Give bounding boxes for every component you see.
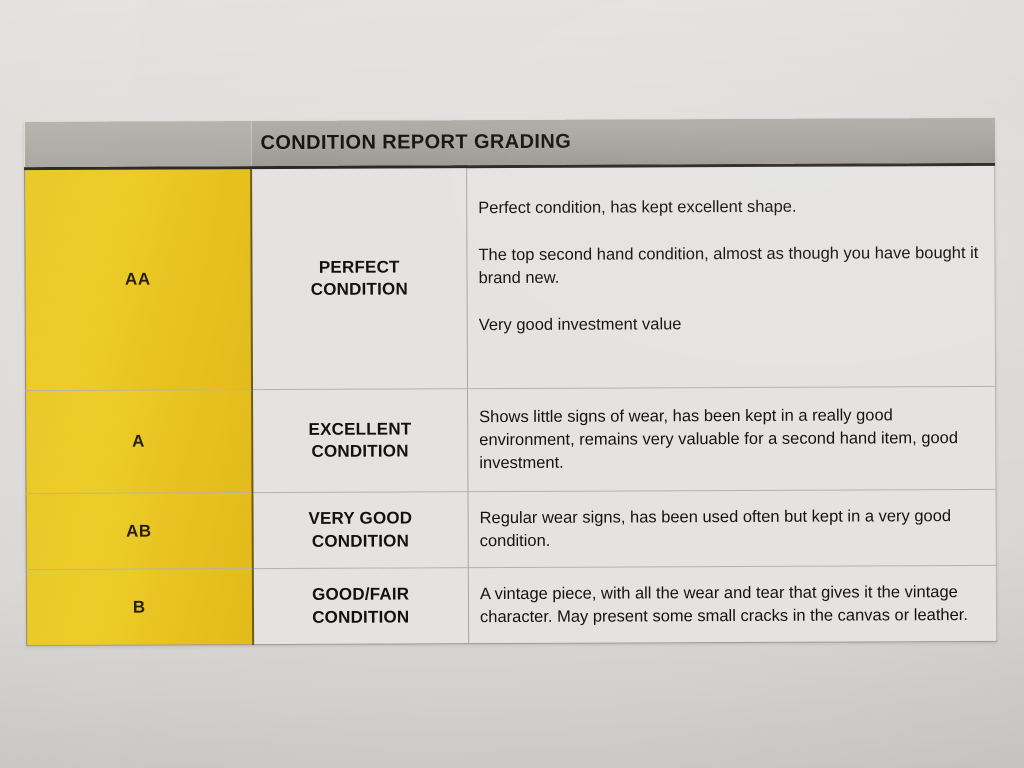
description-paragraph: Regular wear signs, has been used often … bbox=[480, 505, 984, 553]
header-left-spacer bbox=[24, 121, 251, 167]
condition-description-a: Shows little signs of wear, has been kep… bbox=[468, 386, 996, 492]
table-head: CONDITION REPORT GRADING bbox=[24, 118, 994, 169]
condition-name-line-2: CONDITION bbox=[258, 278, 461, 301]
table-body: AA PERFECT CONDITION Perfect condition, … bbox=[25, 164, 997, 645]
table-row: AA PERFECT CONDITION Perfect condition, … bbox=[25, 164, 996, 390]
description-paragraph: A vintage piece, with all the wear and t… bbox=[480, 581, 984, 629]
condition-name-b: GOOD/FAIR CONDITION bbox=[252, 568, 468, 645]
condition-name-line-1: PERFECT bbox=[258, 256, 461, 279]
condition-name-line-2: CONDITION bbox=[259, 440, 462, 463]
condition-description-aa: Perfect condition, has kept excellent sh… bbox=[467, 164, 996, 388]
condition-name-line-2: CONDITION bbox=[259, 530, 462, 553]
condition-description-b: A vintage piece, with all the wear and t… bbox=[468, 566, 996, 644]
condition-name-aa: PERFECT CONDITION bbox=[251, 167, 468, 390]
table-title-banner: CONDITION REPORT GRADING bbox=[24, 118, 994, 169]
condition-name-line-2: CONDITION bbox=[259, 606, 462, 629]
condition-name-a: EXCELLENT CONDITION bbox=[252, 389, 468, 493]
description-paragraph: Shows little signs of wear, has been kep… bbox=[479, 404, 983, 474]
table-row: AB VERY GOOD CONDITION Regular wear sign… bbox=[26, 490, 996, 570]
condition-report-grading-table: CONDITION REPORT GRADING AA PERFECT COND… bbox=[24, 118, 997, 646]
grade-code-b: B bbox=[26, 569, 252, 646]
condition-name-line-1: VERY GOOD bbox=[259, 508, 462, 531]
description-paragraph: The top second hand condition, almost as… bbox=[478, 242, 982, 290]
condition-name-ab: VERY GOOD CONDITION bbox=[252, 492, 468, 569]
grade-code-ab: AB bbox=[26, 493, 252, 570]
table-row: A EXCELLENT CONDITION Shows little signs… bbox=[26, 386, 996, 494]
table-row: B GOOD/FAIR CONDITION A vintage piece, w… bbox=[26, 566, 996, 646]
grade-code-a: A bbox=[26, 390, 252, 494]
condition-report-table-container: CONDITION REPORT GRADING AA PERFECT COND… bbox=[24, 118, 996, 646]
description-paragraph: Very good investment value bbox=[479, 312, 983, 337]
description-paragraph: Perfect condition, has kept excellent sh… bbox=[478, 195, 982, 220]
condition-name-line-1: EXCELLENT bbox=[259, 418, 462, 441]
page-title: CONDITION REPORT GRADING bbox=[251, 131, 571, 155]
table-header-row: CONDITION REPORT GRADING bbox=[24, 118, 994, 169]
condition-description-ab: Regular wear signs, has been used often … bbox=[468, 490, 996, 568]
condition-name-line-1: GOOD/FAIR bbox=[259, 583, 462, 606]
grade-code-aa: AA bbox=[25, 168, 252, 391]
